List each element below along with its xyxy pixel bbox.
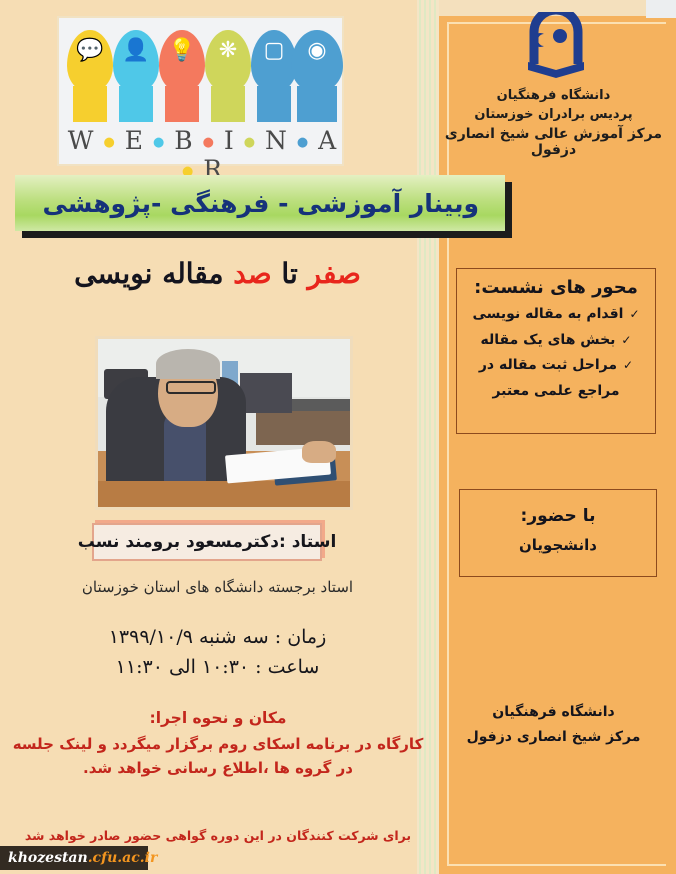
webinar-dot-5: ● <box>297 135 309 150</box>
webinar-letter-n: N <box>265 126 288 155</box>
webinar-letter-i: I <box>224 126 235 155</box>
head-silhouette-6: ◉ <box>291 30 343 122</box>
head-silhouette-4: ❋ <box>205 30 251 122</box>
venue-line-2: در گروه ها ،اطلاع رسانی خواهد شد. <box>12 756 424 781</box>
audience-value: دانشجویان <box>460 536 656 554</box>
event-type-banner: وبینار آموزشی - فرهنگی -پژوهشی <box>15 175 505 231</box>
webinar-heads-graphic: 💬 👤 💡 ❋ ▢ ◉ <box>65 24 340 122</box>
farhangian-university-emblem-icon <box>520 12 592 78</box>
footer-organizer: دانشگاه فرهنگیان مرکز شیخ انصاری دزفول <box>441 700 666 750</box>
topic-label: بخش های یک مقاله <box>481 332 616 348</box>
speech-bubble-icon: 💬 <box>67 38 113 64</box>
list-item: ✓اقدام به مقاله نویسی <box>467 304 645 326</box>
audience-title: با حضور: <box>460 506 656 526</box>
molecule-icon: ❋ <box>205 38 251 64</box>
venue-block: مکان و نحوه اجرا: کارگاه در برنامه اسکای… <box>12 706 424 781</box>
head-silhouette-3: 💡 <box>159 30 205 122</box>
webinar-letter-b: B <box>174 126 193 155</box>
university-line-2: پردیس برادران خوزستان <box>441 107 666 122</box>
stripe-line-3 <box>429 0 431 874</box>
eye-icon: ◉ <box>291 38 343 64</box>
university-line-1: دانشگاه فرهنگیان <box>441 88 666 103</box>
schedule-block: زمان : سه شنبه ۱۳۹۹/۱۰/۹ ساعت : ۱۰:۳۰ ال… <box>20 622 415 683</box>
webinar-letter-w: W <box>68 126 95 155</box>
webinar-letter-a: A <box>318 126 337 155</box>
webinar-dot-4: ● <box>244 135 256 150</box>
speaker-name-label: استاد :دکترمسعود برومند نسب <box>78 532 337 552</box>
headline-word-mid: تا <box>272 257 308 290</box>
webinar-poster: 💬 👤 💡 ❋ ▢ ◉ W <box>0 0 676 874</box>
event-type-label: وبینار آموزشی - فرهنگی -پژوهشی <box>42 189 479 218</box>
footer-org-line-2: مرکز شیخ انصاری دزفول <box>441 725 666 750</box>
headline-word-red-2: صد <box>233 257 271 290</box>
webinar-dot-3: ● <box>203 135 215 150</box>
list-item: ✓مراحل ثبت مقاله در <box>467 355 645 377</box>
site-watermark[interactable]: khozestan.cfu.ac.ir <box>0 846 148 870</box>
footer-org-line-1: دانشگاه فرهنگیان <box>441 700 666 725</box>
webinar-logo: 💬 👤 💡 ❋ ▢ ◉ W <box>57 16 344 166</box>
headline-word-red-1: صفر <box>308 257 361 290</box>
head-silhouette-1: 💬 <box>67 30 113 122</box>
photo-printer <box>240 373 292 413</box>
photo-person-glasses <box>166 381 216 394</box>
top-right-white-corner <box>646 0 676 18</box>
watermark-suffix: .cfu.ac.ir <box>88 850 158 866</box>
topics-list: ✓اقدام به مقاله نویسی ✓بخش های یک مقاله … <box>457 304 655 377</box>
page-title: صفر تا صد مقاله نویسی <box>20 255 415 293</box>
speaker-name-banner: استاد :دکترمسعود برومند نسب <box>92 523 322 561</box>
speaker-photo <box>95 336 353 510</box>
venue-line-1: کارگاه در برنامه اسکای روم برگزار میگردد… <box>12 732 424 757</box>
watermark-prefix: khozestan <box>8 850 88 866</box>
headline-word-rest: مقاله نویسی <box>74 257 233 290</box>
stripe-line-2 <box>424 0 426 874</box>
university-names: دانشگاه فرهنگیان پردیس برادران خوزستان م… <box>441 84 666 162</box>
head-silhouette-2: 👤 <box>113 30 159 122</box>
photo-shelf <box>256 411 350 445</box>
check-icon: ✓ <box>623 358 633 372</box>
list-item: ✓بخش های یک مقاله <box>467 330 645 352</box>
person-headset-icon: 👤 <box>113 38 159 64</box>
topic-label: اقدام به مقاله نویسی <box>473 306 624 322</box>
topics-box: محور های نشست: ✓اقدام به مقاله نویسی ✓بخ… <box>456 268 656 434</box>
stripe-line-4 <box>434 0 436 874</box>
webinar-dot-1: ● <box>103 135 115 150</box>
photo-desk-front <box>98 481 350 507</box>
schedule-time: ساعت : ۱۰:۳۰ الی ۱۱:۳۰ <box>20 652 415 682</box>
check-icon: ✓ <box>629 307 639 321</box>
lightbulb-icon: 💡 <box>159 38 205 64</box>
photo-person-hair <box>156 349 220 379</box>
topic-label: مراحل ثبت مقاله در <box>479 357 617 373</box>
venue-title: مکان و نحوه اجرا: <box>12 706 424 732</box>
webinar-dot-2: ● <box>153 135 165 150</box>
schedule-date: زمان : سه شنبه ۱۳۹۹/۱۰/۹ <box>20 622 415 652</box>
certificate-note: برای شرکت کنندگان در این دوره گواهی حضور… <box>12 828 424 843</box>
webinar-letter-e: E <box>125 126 144 155</box>
topics-title: محور های نشست: <box>457 277 655 298</box>
speaker-subtitle: استاد برجسته دانشگاه های استان خوزستان <box>20 578 415 596</box>
audience-box: با حضور: دانشجویان <box>459 489 657 577</box>
photo-person-hand <box>302 441 336 463</box>
check-icon: ✓ <box>621 333 631 347</box>
university-line-3: مرکز آموزش عالی شیخ انصاری دزفول <box>441 126 666 158</box>
topics-continuation: مراجع علمی معتبر <box>457 381 655 403</box>
